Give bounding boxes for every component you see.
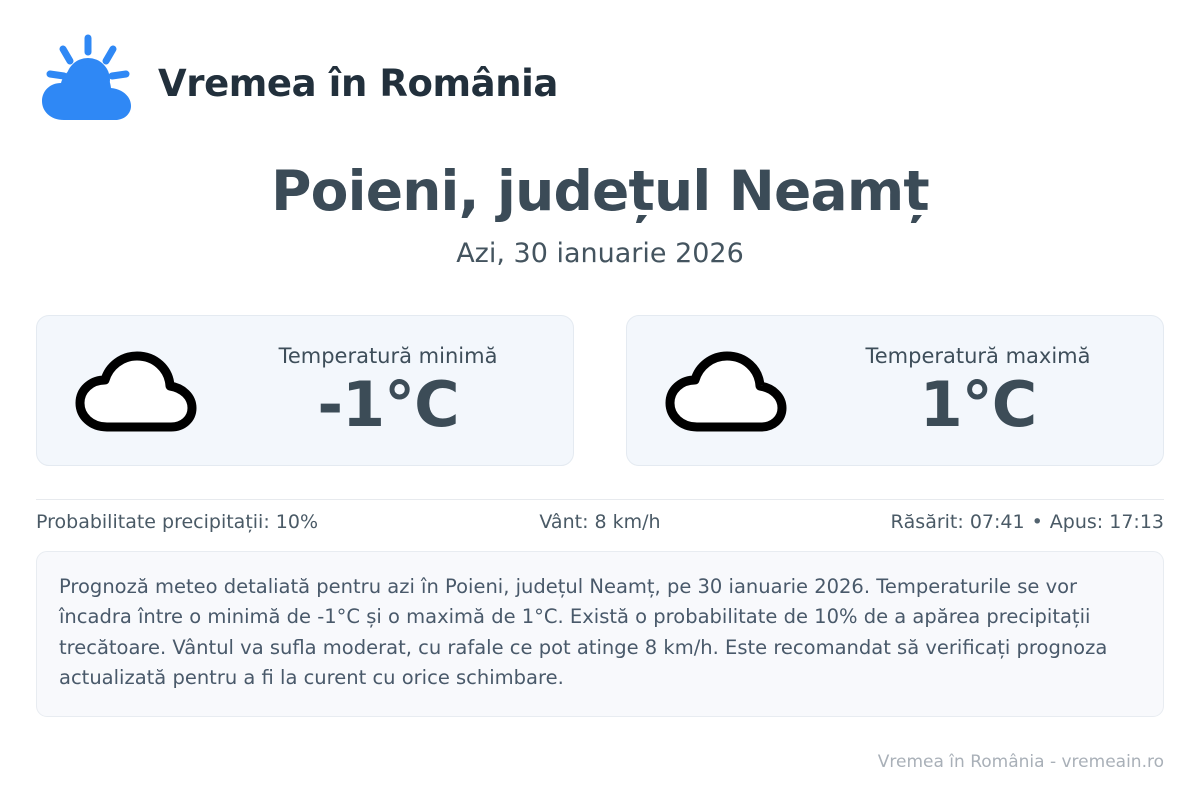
brand-name: Vremea în România bbox=[158, 64, 558, 104]
min-temperature-info: Temperatură minimă -1°C bbox=[225, 344, 551, 436]
max-temperature-card: Temperatură maximă 1°C bbox=[626, 315, 1164, 466]
min-temperature-card: Temperatură minimă -1°C bbox=[36, 315, 574, 466]
forecast-description-card: Prognoză meteo detaliată pentru azi în P… bbox=[36, 551, 1164, 717]
stats-row: Probabilitate precipitații: 10% Vânt: 8 … bbox=[36, 500, 1164, 544]
sunrise-value: Răsărit: 07:41 bbox=[890, 511, 1024, 533]
site-header: Vremea în România bbox=[36, 0, 1164, 120]
max-temperature-info: Temperatură maximă 1°C bbox=[815, 344, 1141, 436]
sun-times-stat: Răsărit: 07:41•Apus: 17:13 bbox=[788, 511, 1164, 533]
temperature-cards: Temperatură minimă -1°C Temperatură maxi… bbox=[36, 315, 1164, 466]
cloud-icon bbox=[71, 343, 199, 439]
page-title: Poieni, județul Neamț bbox=[36, 162, 1164, 221]
max-temperature-label: Temperatură maximă bbox=[865, 344, 1090, 369]
forecast-description-text: Prognoză meteo detaliată pentru azi în P… bbox=[59, 572, 1141, 694]
site-footer: Vremea în România - vremeain.ro bbox=[878, 752, 1164, 772]
wind-stat: Vânt: 8 km/h bbox=[412, 511, 788, 533]
min-temperature-value: -1°C bbox=[317, 372, 458, 437]
cloud-icon bbox=[661, 343, 789, 439]
page-subtitle: Azi, 30 ianuarie 2026 bbox=[36, 239, 1164, 269]
precipitation-stat: Probabilitate precipitații: 10% bbox=[36, 511, 412, 533]
max-temperature-value: 1°C bbox=[920, 372, 1037, 437]
min-temperature-label: Temperatură minimă bbox=[279, 344, 498, 369]
sun-behind-cloud-icon bbox=[36, 32, 140, 136]
title-block: Poieni, județul Neamț Azi, 30 ianuarie 2… bbox=[36, 162, 1164, 269]
sunset-value: Apus: 17:13 bbox=[1050, 511, 1164, 533]
sun-separator: • bbox=[1025, 511, 1050, 533]
weather-page: Vremea în România Poieni, județul Neamț … bbox=[0, 0, 1200, 800]
